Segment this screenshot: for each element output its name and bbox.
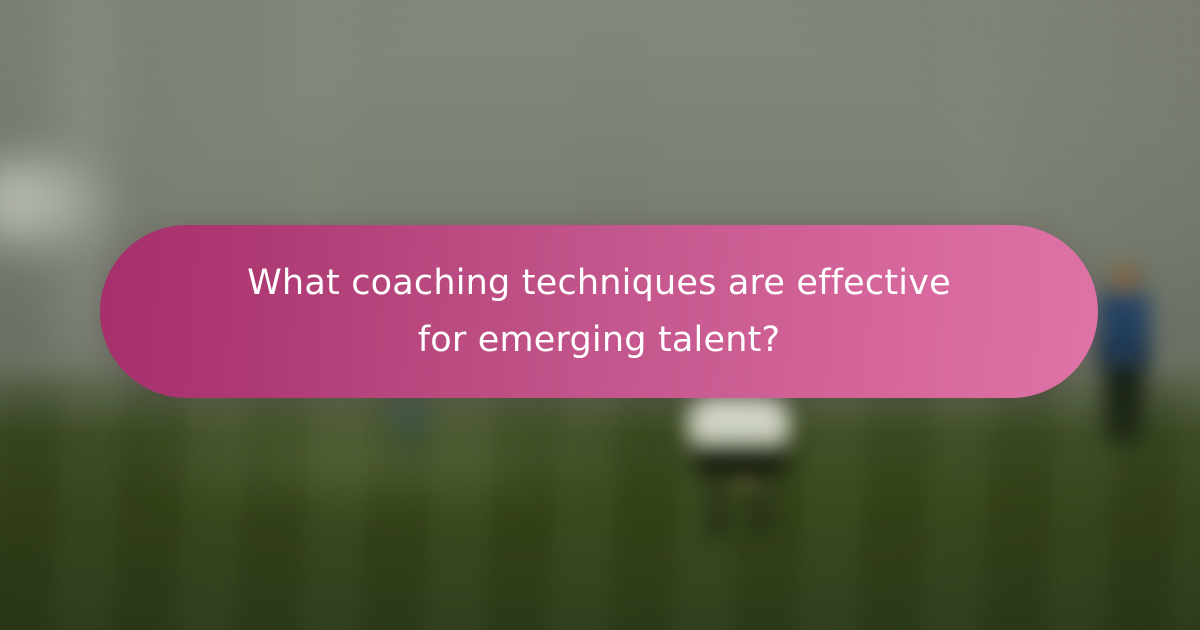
question-card-banner: What coaching techniques are effective f…	[0, 0, 1200, 630]
question-pill-card: What coaching techniques are effective f…	[100, 225, 1098, 398]
question-text: What coaching techniques are effective f…	[219, 255, 979, 369]
halftone-dot-pattern-icon	[1080, 0, 1200, 120]
